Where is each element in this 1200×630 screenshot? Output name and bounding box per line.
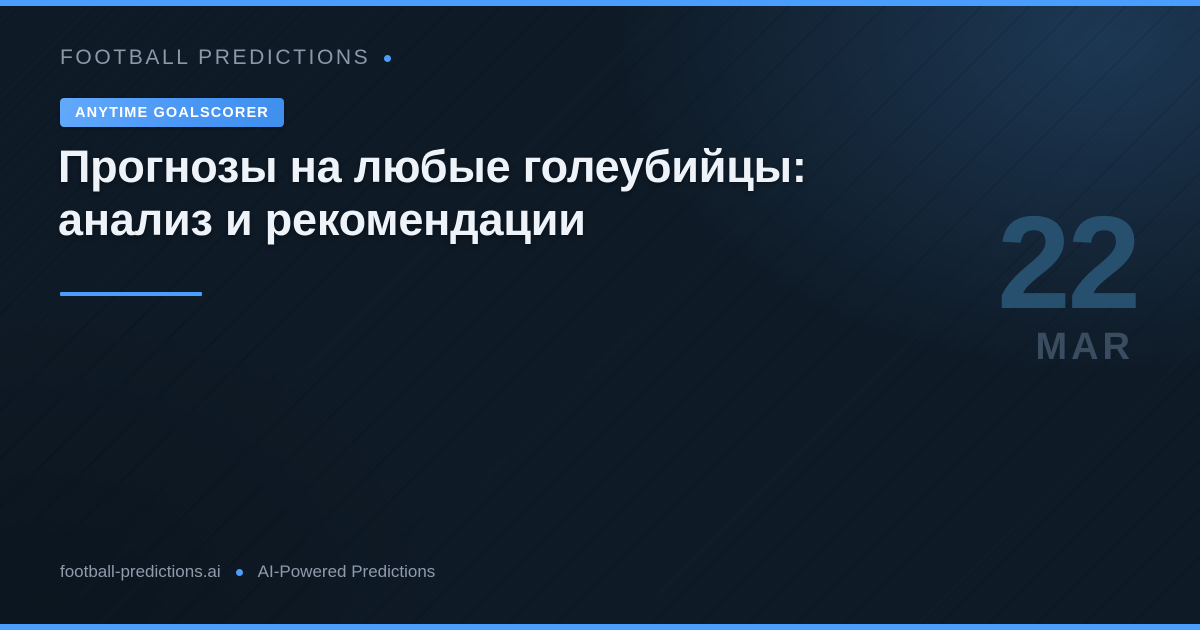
date-day: 22 xyxy=(997,206,1138,320)
footer-tagline: AI-Powered Predictions xyxy=(258,562,436,582)
category-badge-label: ANYTIME GOALSCORER xyxy=(75,105,269,121)
bullet-dot-icon xyxy=(236,569,243,576)
title-accent-rule xyxy=(60,292,202,296)
bullet-dot-icon xyxy=(384,55,391,62)
social-share-banner: FOOTBALL PREDICTIONS ANYTIME GOALSCORER … xyxy=(0,0,1200,630)
bottom-accent-bar xyxy=(0,624,1200,630)
banner-content: FOOTBALL PREDICTIONS ANYTIME GOALSCORER … xyxy=(0,0,1200,630)
brand-eyebrow-label: FOOTBALL PREDICTIONS xyxy=(60,46,370,70)
top-accent-bar xyxy=(0,0,1200,6)
footer-site-url[interactable]: football-predictions.ai xyxy=(60,562,221,582)
page-title: Прогнозы на любые голеубийцы: анализ и р… xyxy=(58,140,958,246)
date-month: MAR xyxy=(1035,328,1134,366)
date-stamp: 22 MAR xyxy=(997,206,1138,366)
footer: football-predictions.ai AI-Powered Predi… xyxy=(60,562,435,582)
category-badge[interactable]: ANYTIME GOALSCORER xyxy=(60,98,284,127)
brand-eyebrow: FOOTBALL PREDICTIONS xyxy=(60,46,391,70)
